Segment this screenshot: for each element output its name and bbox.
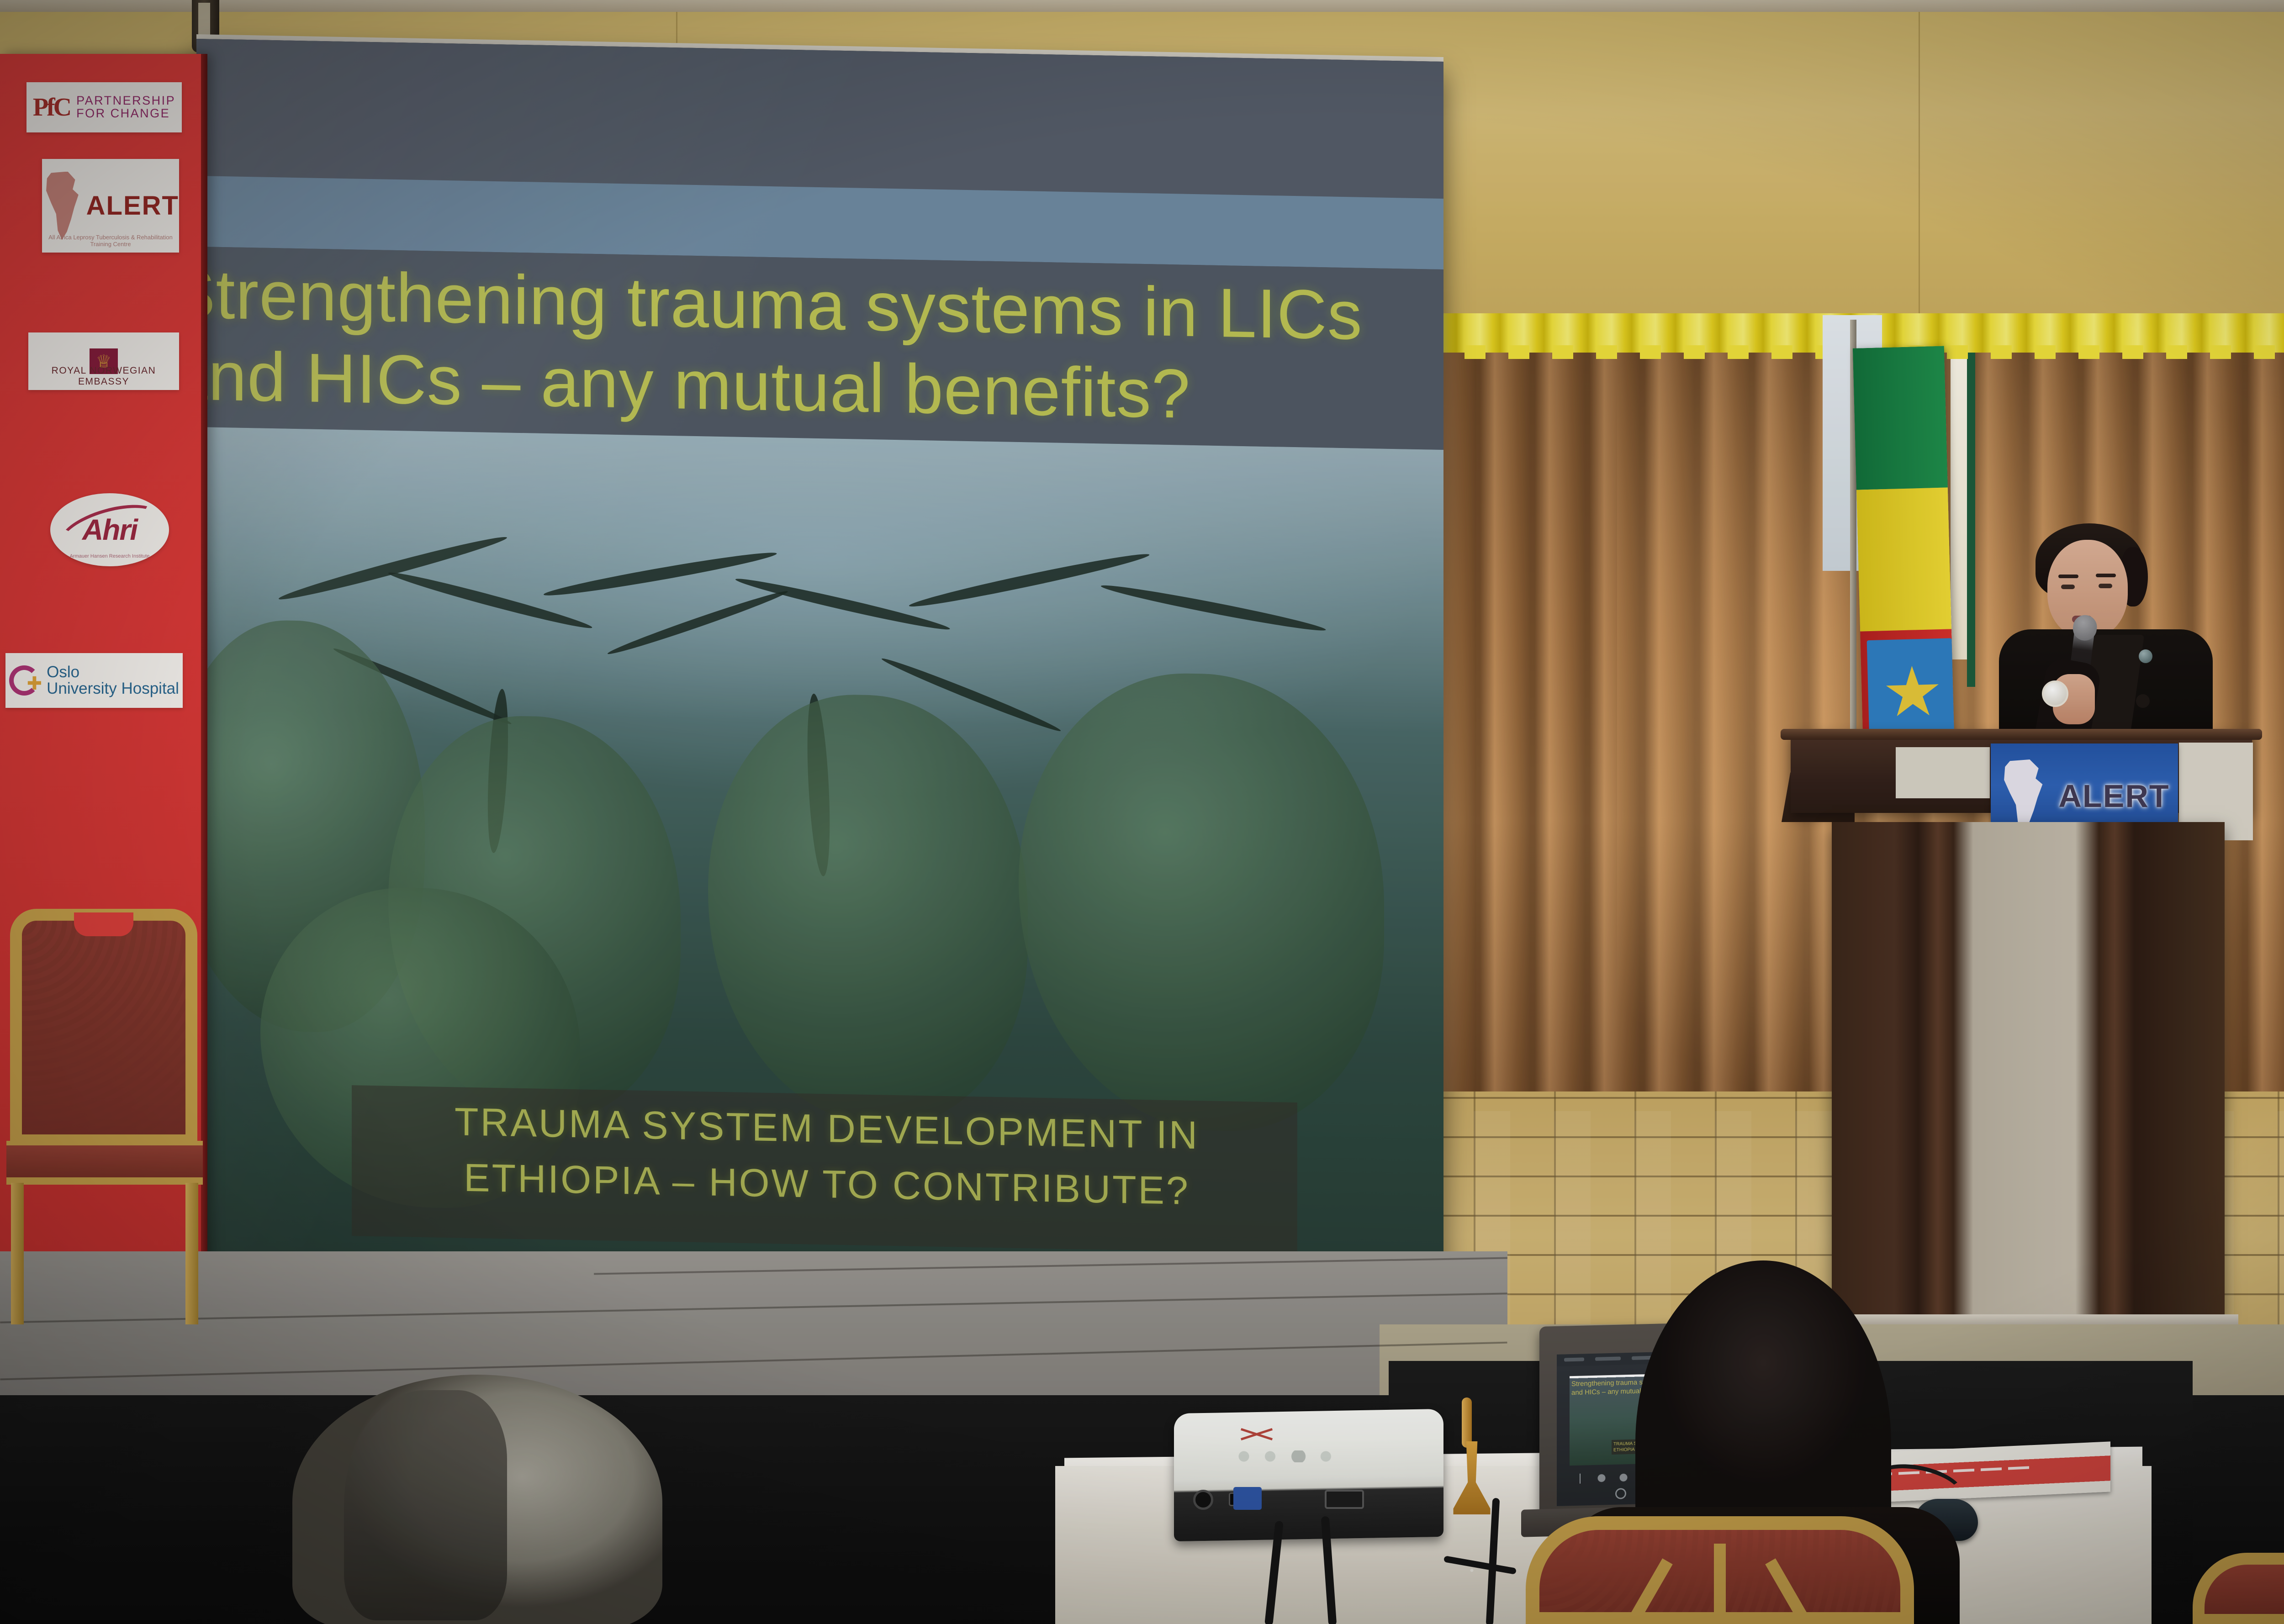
jacket-button <box>2136 694 2150 708</box>
projector-vga-port <box>1325 1490 1364 1509</box>
chair-back <box>10 909 197 1146</box>
toolbar-item[interactable] <box>1564 1357 1584 1361</box>
speaker-presenter <box>1978 498 2234 754</box>
projected-slide: Strengthening trauma systems in LICs and… <box>196 39 1443 1304</box>
slide-top-band <box>196 39 1443 199</box>
ahri-swoosh-icon <box>55 496 164 562</box>
alert-subtitle: All Africa Leprosy Tuberculosis & Rehabi… <box>42 234 179 248</box>
chair-leg <box>11 1183 24 1324</box>
medical-cross-icon: ✚ <box>27 675 42 693</box>
audience-member-grey-hair <box>292 1375 662 1624</box>
speaker-eye <box>2061 585 2075 589</box>
chair-spoke <box>1714 1544 1726 1624</box>
speaker-eye <box>2099 584 2112 588</box>
africa-map-icon <box>1999 759 2048 833</box>
wall-seam <box>1919 0 1920 320</box>
flag-yellow-band <box>1856 487 1951 632</box>
chair-back-notch <box>74 912 133 936</box>
projection-screen: Strengthening trauma systems in LICs and… <box>196 39 1443 1304</box>
alert-wordmark: ALERT <box>86 190 179 221</box>
oslo-wordmark: Oslo University Hospital <box>47 664 179 697</box>
chair-stage-left[interactable] <box>6 909 203 1324</box>
logo-royal-norwegian-embassy: ♕ ROYAL NORWEGIAN EMBASSY <box>28 332 179 390</box>
podium-panel-left <box>1896 747 1990 798</box>
projector-lens-icon <box>1193 1490 1213 1510</box>
ahri-subtitle: Armauer Hansen Research Institute <box>50 554 169 559</box>
chair-leg <box>185 1183 198 1324</box>
pfc-monogram: PfC <box>33 93 70 122</box>
logo-ahri: Ahri Armauer Hansen Research Institute <box>50 493 169 566</box>
podium-body <box>1832 822 2225 1320</box>
speaker-brow <box>2058 575 2078 578</box>
logo-pfc: PfC PARTNERSHIP FOR CHANGE <box>26 82 182 132</box>
curtain-green-strip <box>1967 340 1975 687</box>
play-icon[interactable] <box>1615 1488 1626 1499</box>
ceiling-strip <box>0 0 2284 12</box>
projector-vga-cable <box>1233 1487 1262 1510</box>
ethiopian-flag: ★ <box>1853 346 1955 773</box>
chair-seat <box>6 1141 203 1185</box>
oslo-circle-icon: ✚ <box>9 665 39 696</box>
bell-handle <box>1462 1397 1472 1448</box>
podium-alert-word: ALERT <box>2058 778 2169 814</box>
speaker-brow <box>2096 574 2116 577</box>
toolbar-item[interactable] <box>1595 1356 1621 1360</box>
wristwatch <box>2042 680 2068 707</box>
podium-top-lip <box>1781 729 2262 740</box>
logo-alert: ALERT All Africa Leprosy Tuberculosis & … <box>42 159 179 253</box>
flag-star-icon: ★ <box>1881 661 1944 722</box>
logo-oslo-university-hospital: ✚ Oslo University Hospital <box>5 653 183 708</box>
projector-buttons[interactable] <box>1233 1450 1338 1462</box>
africa-map-icon <box>42 172 84 240</box>
slide-title: Strengthening trauma systems in LICs and… <box>196 253 1430 440</box>
embassy-wordmark: ROYAL NORWEGIAN EMBASSY <box>28 365 179 387</box>
conference-photo-scene: ★ <box>0 0 2284 1624</box>
slide-subtitle: TRAUMA SYSTEM DEVELOPMENT IN ETHIOPIA – … <box>352 1092 1302 1221</box>
projector[interactable] <box>1174 1409 1443 1541</box>
flag-green-band <box>1853 346 1948 490</box>
jacket-button <box>2139 649 2152 663</box>
chair-foreground[interactable] <box>1526 1516 1914 1624</box>
pfc-wordmark: PARTNERSHIP FOR CHANGE <box>76 95 175 120</box>
